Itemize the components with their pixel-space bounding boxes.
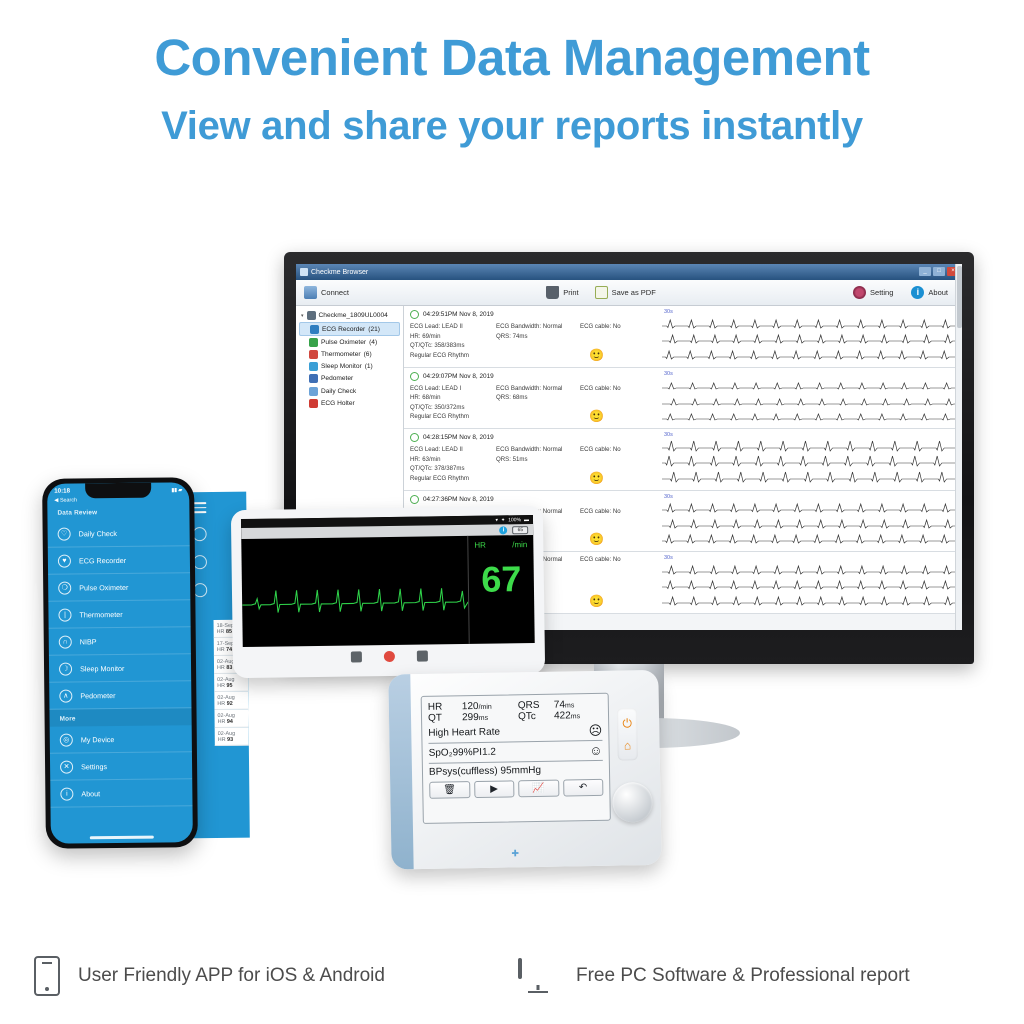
thermometer-icon [309, 350, 318, 359]
cable-field: ECG cable: No [580, 508, 658, 515]
footer-item-pc: Free PC Software & Professional report [518, 956, 910, 996]
info-icon[interactable]: i [500, 526, 508, 534]
moon-icon: ☽ [59, 662, 72, 675]
tree-item-daily-check[interactable]: Daily Check [299, 385, 400, 397]
list-item-hr: HR 92 [217, 700, 245, 706]
qrs-field: QRS: 68ms [496, 394, 580, 401]
sidebar-item-pulse-oximeter[interactable]: ❍ Pulse Oximeter [48, 573, 190, 601]
ecg-waveform [662, 515, 956, 530]
qrs-field: QRS: 74ms [496, 333, 580, 340]
ecg-waveform [662, 315, 956, 330]
tree-item-label: ECG Holter [321, 400, 355, 407]
clock-icon [410, 372, 419, 381]
live-ecg-waveform [241, 536, 468, 647]
connect-icon [304, 286, 317, 299]
pdf-icon [595, 286, 608, 299]
qt-unit: ms [479, 715, 488, 722]
steps-icon: ∧ [59, 689, 72, 702]
tree-item-label: Sleep Monitor [321, 363, 362, 370]
scrollbar-thumb[interactable] [957, 266, 962, 328]
device-side-strip [388, 674, 413, 869]
hr-readout-panel: HR /min 67 [467, 535, 535, 644]
record-time-label: 04:29:51PM Nov 8, 2019 [423, 311, 494, 318]
lead-field: ECG Lead: LEAD II [410, 323, 496, 330]
record-status-face: 🙂 [589, 533, 604, 545]
sidebar-item-label: Pulse Oximeter [79, 582, 128, 592]
gear-icon [853, 286, 866, 299]
list-item-hr: HR 94 [218, 718, 246, 724]
tree-root-label: Checkme_1809UL0004 [319, 312, 388, 319]
hr-unit: /min [478, 704, 491, 711]
section-more: More [49, 708, 191, 726]
device-screen: HR 120/min QRS 74ms QT 299ms QTc 422ms H… [421, 693, 611, 824]
vertical-scrollbar[interactable] [955, 264, 962, 630]
qtc-unit: ms [571, 713, 580, 720]
home-indicator[interactable] [90, 836, 154, 840]
record-details: 04:28:15PM Nov 8, 2019 ECG Lead: LEAD II… [410, 433, 658, 485]
sidebar-item-sleep-monitor[interactable]: ☽ Sleep Monitor [49, 654, 191, 682]
back-label: Search [60, 497, 77, 503]
tree-item-sleep-monitor[interactable]: Sleep Monitor (1) [299, 361, 400, 373]
spo2-value: 99% [452, 747, 472, 758]
tree-item-label: Pedometer [321, 375, 353, 382]
tree-item-count: (6) [364, 351, 372, 358]
qtc-value: 422 [554, 710, 571, 721]
record-button[interactable] [383, 650, 394, 661]
print-label: Print [563, 288, 578, 297]
connect-label: Connect [321, 288, 349, 297]
ecg-line-group [662, 433, 956, 485]
record-details: 04:29:07PM Nov 8, 2019 ECG Lead: LEAD I … [410, 372, 658, 424]
record-ecg-strips: 30s [658, 556, 956, 608]
qrs-value: 74 [554, 699, 565, 710]
ecg-holter-icon [309, 399, 318, 408]
divider [429, 760, 603, 764]
window-titlebar: Checkme Browser _ □ × [296, 264, 962, 280]
tablet-controls [243, 643, 535, 669]
hr-value: 120 [462, 701, 479, 712]
window-controls[interactable]: _ □ × [919, 267, 959, 276]
record-rhythm: Regular ECG Rhythm [410, 475, 658, 482]
device-hardware-keys[interactable]: ⏻ ⌂ [617, 708, 638, 760]
monitor-icon [518, 960, 558, 993]
record-metrics: ECG Lead: LEAD I ECG Bandwidth: Normal E… [410, 385, 658, 411]
signal-battery-icons: ▮▮ ▰ [171, 487, 182, 493]
info-icon: i [911, 286, 924, 299]
ecg-waveform [662, 453, 956, 468]
ecg-waveform [662, 561, 956, 576]
cable-field: ECG cable: No [580, 556, 658, 563]
record-timestamp: 04:28:15PM Nov 8, 2019 [410, 433, 658, 442]
tablet-device: ▾ ✦ 100% ▬ i 65 HR /min 67 [231, 506, 545, 678]
duration-label: 30s [664, 432, 673, 438]
bandwidth-field: ECG Bandwidth: Normal [496, 385, 580, 392]
ecg-waveform [662, 592, 956, 607]
record-time-label: 04:27:36PM Nov 8, 2019 [423, 496, 494, 503]
print-button[interactable]: Print [546, 286, 578, 299]
wifi-icon: ▾ [495, 517, 498, 523]
bandwidth-field: ECG Bandwidth: Normal [496, 323, 580, 330]
sleep-monitor-icon [309, 362, 318, 371]
divider [428, 740, 602, 744]
bluetooth-icon: ✦ [501, 517, 505, 523]
sidebar-item-ecg-recorder[interactable]: ♥ ECG Recorder [48, 546, 190, 574]
duration-label: 30s [664, 555, 673, 561]
tree-item-pulse-oximeter[interactable]: Pulse Oximeter (4) [299, 336, 400, 348]
tree-item-label: Pulse Oximeter [321, 339, 366, 346]
hr-label: HR [474, 541, 486, 550]
ecg-waveform [662, 330, 956, 345]
pulse-oximeter-icon [309, 338, 318, 347]
sidebar-item-about[interactable]: i About [50, 779, 192, 807]
qtqtc-field: QT/QTc: 350/372ms [410, 404, 496, 411]
clock-icon [410, 495, 419, 504]
window-title: Checkme Browser [311, 269, 368, 276]
tree-item-count: (1) [365, 363, 373, 370]
record-ecg-strips: 30s [658, 433, 956, 485]
spo2-label: SpO₂ [429, 747, 453, 758]
daily-check-icon [309, 387, 318, 396]
maximize-button[interactable]: □ [933, 267, 945, 276]
record-row[interactable]: 04:29:51PM Nov 8, 2019 ECG Lead: LEAD II… [404, 306, 962, 368]
pi-label: PI [472, 747, 482, 758]
sidebar-item-label: NIBP [80, 637, 97, 646]
minimize-button[interactable]: _ [919, 267, 931, 276]
list-button[interactable] [416, 650, 427, 661]
record-timestamp: 04:27:36PM Nov 8, 2019 [410, 495, 658, 504]
app-icon [300, 268, 308, 276]
section-data-review: Data Review [47, 502, 189, 520]
gear-icon: ✕ [60, 760, 73, 773]
page-subtitle: View and share your reports instantly [0, 104, 1024, 149]
hr-labels: HR /min [468, 535, 533, 550]
device-alarm-row: High Heart Rate ☹ [428, 724, 602, 740]
home-icon[interactable]: ⌂ [624, 739, 631, 753]
sidebar-item-label: Pedometer [80, 691, 115, 700]
setting-button[interactable]: Setting [853, 286, 893, 299]
lead-field: ECG Lead: LEAD I [410, 385, 496, 392]
ecg-waveform [662, 576, 956, 591]
play-icon[interactable]: ▶ [474, 780, 515, 798]
ecg-waveform [662, 376, 956, 391]
trash-icon[interactable]: 🗑 [429, 781, 470, 799]
duration-label: 30s [664, 309, 673, 315]
hr-field: HR: 68/min [410, 394, 496, 401]
tree-item-label: Daily Check [321, 388, 356, 395]
save-pdf-button[interactable]: Save as PDF [595, 286, 656, 299]
sidebar-item-label: My Device [81, 735, 115, 744]
footer-app-label: User Friendly APP for iOS & Android [78, 965, 385, 987]
chevron-down-icon[interactable]: ▾ [301, 313, 304, 319]
hr-field: HR: 69/min [410, 333, 496, 340]
qt-value-wrap: 299ms [462, 711, 518, 723]
printer-icon [546, 286, 559, 299]
qtc-label: QTc [518, 711, 554, 723]
qrs-value-wrap: 74ms [554, 699, 575, 710]
hr-unit: /min [512, 540, 527, 549]
device-spo2-row: SpO₂ 99% PI 1.2 ☺ [429, 744, 603, 760]
record-ecg-strips: 30s [658, 310, 956, 362]
ecg-waveform [662, 469, 956, 484]
record-status-face: 🙂 [589, 472, 604, 484]
record-metrics: ECG Lead: LEAD II ECG Bandwidth: Normal … [410, 446, 658, 472]
qtqtc-field: QT/QTc: 378/387ms [410, 465, 496, 472]
cable-field: ECG cable: No [580, 385, 658, 392]
sidebar-item-label: Sleep Monitor [80, 663, 124, 672]
sidebar-item-settings[interactable]: ✕ Settings [50, 752, 192, 780]
ecg-line-group [662, 310, 956, 362]
status-time: 10:18 [54, 488, 70, 495]
sidebar-item-my-device[interactable]: ◎ My Device [50, 725, 192, 753]
duration-label: 30s [664, 371, 673, 377]
chart-icon[interactable]: 📈 [518, 780, 559, 798]
bp-text: BPsys(cuffless) 95mmHg [429, 764, 603, 778]
ecg-line-group [662, 372, 956, 424]
ecg-waveform [662, 392, 956, 407]
sidebar-item-label: Settings [81, 762, 107, 771]
hr-value: 67 [469, 561, 534, 598]
record-time-label: 04:28:15PM Nov 8, 2019 [423, 434, 494, 441]
ecg-line-group [662, 495, 956, 547]
cuff-icon: ∩ [59, 635, 72, 648]
tree-item-label: ECG Recorder [322, 326, 365, 333]
record-row[interactable]: 04:29:07PM Nov 8, 2019 ECG Lead: LEAD I … [404, 368, 962, 430]
happy-face-icon: ☺ [589, 744, 603, 757]
qrs-label: QRS [518, 700, 554, 712]
device-logo: ✚ [511, 848, 519, 859]
tree-item-ecg-recorder[interactable]: ECG Recorder (21) [299, 322, 400, 336]
tablet-screen: ▾ ✦ 100% ▬ i 65 HR /min 67 [241, 515, 535, 647]
sidebar-item-thermometer[interactable]: | Thermometer [48, 600, 190, 628]
phone-screen: 10:18 ▮▮ ▰ ◀ Search Data Review ♡ Daily … [47, 482, 193, 843]
heart-icon: ♥ [58, 554, 71, 567]
list-item[interactable]: 02-Aug HR 92 [214, 692, 248, 710]
device-row-qt-qtc: QT 299ms QTc 422ms [428, 710, 602, 724]
about-button[interactable]: i About [911, 286, 948, 299]
record-metrics: ECG Lead: LEAD II ECG Bandwidth: Normal … [410, 323, 658, 349]
clock-icon [410, 433, 419, 442]
about-label: About [928, 288, 948, 297]
ecg-waveform [662, 438, 956, 453]
tree-item-count: (21) [368, 326, 380, 333]
ecg-waveform [662, 346, 956, 361]
qtqtc-field: QT/QTc: 358/383ms [410, 342, 496, 349]
footer-pc-label: Free PC Software & Professional report [576, 965, 910, 987]
tree-item-pedometer[interactable]: Pedometer [299, 373, 400, 385]
sidebar-item-label: Thermometer [79, 609, 122, 618]
device-icon: ◎ [60, 733, 73, 746]
list-item-hr: HR 93 [218, 736, 246, 742]
ecg-waveform [662, 530, 956, 545]
tree-item-ecg-holter[interactable]: ECG Holter [299, 397, 400, 409]
device-sensor-knob[interactable] [612, 782, 653, 823]
sad-face-icon: ☹ [589, 724, 603, 737]
footer-item-app: User Friendly APP for iOS & Android [34, 956, 504, 996]
clock-icon [410, 310, 419, 319]
record-timestamp: 04:29:51PM Nov 8, 2019 [410, 310, 658, 319]
save-pdf-label: Save as PDF [612, 288, 656, 297]
ecg-waveform [662, 407, 956, 422]
handheld-monitor-device: HR 120/min QRS 74ms QT 299ms QTc 422ms H… [388, 669, 681, 874]
record-time-label: 04:29:07PM Nov 8, 2019 [423, 373, 494, 380]
gain-pill[interactable]: 65 [513, 526, 529, 534]
pedometer-icon [309, 374, 318, 383]
camera-button[interactable] [350, 651, 361, 662]
record-ecg-strips: 30s [658, 372, 956, 424]
tree-item-count: (4) [369, 339, 377, 346]
back-icon[interactable]: ↶ [563, 779, 604, 797]
hr-field: HR: 63/min [410, 456, 496, 463]
duration-label: 30s [664, 494, 673, 500]
record-status-face: 🙂 [589, 595, 604, 607]
info-icon: i [60, 787, 73, 800]
cable-field: ECG cable: No [580, 446, 658, 453]
record-timestamp: 04:29:07PM Nov 8, 2019 [410, 372, 658, 381]
qtc-value-wrap: 422ms [554, 710, 580, 721]
qt-value: 299 [462, 712, 479, 723]
tree-item-label: Thermometer [321, 351, 361, 358]
footer: User Friendly APP for iOS & Android Free… [0, 956, 1024, 996]
connect-button[interactable]: Connect [304, 286, 349, 299]
page-title: Convenient Data Management [0, 28, 1024, 87]
device-button-bar: 🗑 ▶ 📈 ↶ [429, 779, 603, 799]
sidebar-item-pedometer[interactable]: ∧ Pedometer [49, 681, 191, 709]
list-item[interactable]: 02-Aug HR 93 [215, 728, 249, 746]
tree-item-thermometer[interactable]: Thermometer (6) [299, 348, 400, 360]
sidebar-item-label: About [81, 789, 100, 798]
bandwidth-field: ECG Bandwidth: Normal [496, 446, 580, 453]
list-item-hr: HR 95 [217, 682, 245, 688]
sidebar-item-daily-check[interactable]: ♡ Daily Check [48, 519, 190, 547]
sidebar-item-label: ECG Recorder [79, 555, 126, 564]
sidebar-item-nibp[interactable]: ∩ NIBP [49, 627, 191, 655]
battery-label: 100% [508, 517, 521, 523]
ecg-waveform [662, 499, 956, 514]
record-rhythm: Regular ECG Rhythm [410, 352, 658, 359]
tree-root-node[interactable]: ▾ Checkme_1809UL0004 [299, 310, 400, 322]
live-ecg-plot [241, 536, 468, 647]
qrs-field: QRS: 51ms [496, 456, 580, 463]
power-icon[interactable]: ⏻ [622, 716, 632, 731]
ecg-recorder-icon [310, 325, 319, 334]
app-toolbar: Connect Print Save as PDF Setting i [296, 280, 962, 306]
hr-label: HR [428, 701, 462, 713]
record-status-face: 🙂 [589, 410, 604, 422]
device-icon [307, 311, 316, 320]
record-row[interactable]: 04:28:15PM Nov 8, 2019 ECG Lead: LEAD II… [404, 429, 962, 491]
record-ecg-strips: 30s [658, 495, 956, 547]
record-details: 04:29:51PM Nov 8, 2019 ECG Lead: LEAD II… [410, 310, 658, 362]
qrs-unit: ms [565, 702, 574, 709]
smartphone-device: 10:18 ▮▮ ▰ ◀ Search Data Review ♡ Daily … [42, 477, 198, 849]
device-body: HR 120/min QRS 74ms QT 299ms QTc 422ms H… [388, 670, 661, 870]
record-status-face: 🙂 [589, 349, 604, 361]
pi-value: 1.2 [482, 747, 496, 758]
cable-field: ECG cable: No [580, 323, 658, 330]
smartphone-icon [34, 956, 60, 996]
record-rhythm: Regular ECG Rhythm [410, 413, 658, 420]
sidebar-item-label: Daily Check [79, 529, 117, 538]
phone-notch [85, 483, 151, 499]
droplet-icon: ❍ [58, 581, 71, 594]
setting-label: Setting [870, 288, 893, 297]
thermometer-icon: | [58, 608, 71, 621]
alarm-text: High Heart Rate [428, 727, 500, 739]
battery-icon: ▬ [524, 517, 529, 523]
lead-field: ECG Lead: LEAD II [410, 446, 496, 453]
ecg-line-group [662, 556, 956, 608]
list-item[interactable]: 02-Aug HR 94 [214, 710, 248, 728]
stethoscope-icon: ♡ [58, 527, 71, 540]
qt-label: QT [428, 712, 462, 724]
